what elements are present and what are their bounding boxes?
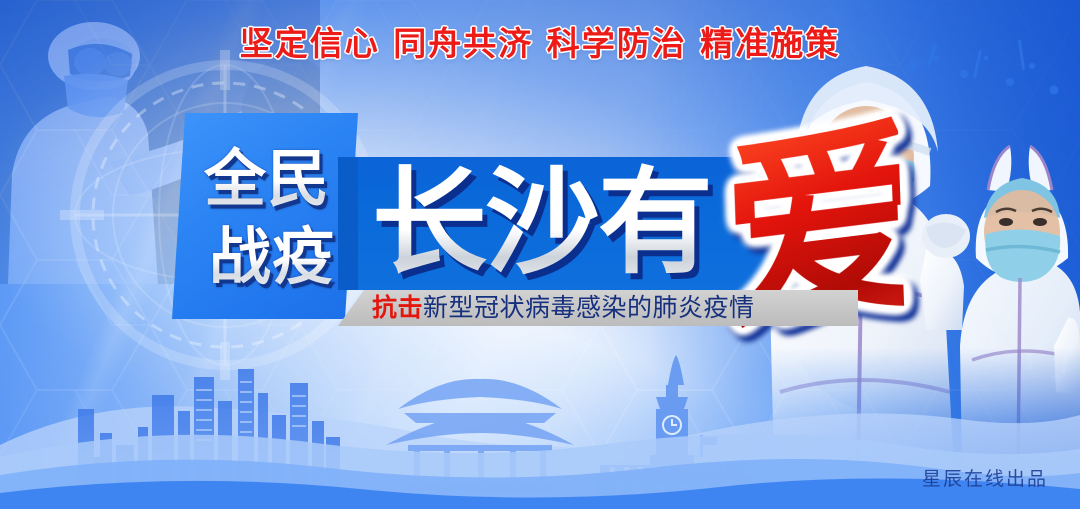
covid-campaign-banner: 坚定信心 同舟共济 科学防治 精准施策 全民 战疫 长沙有 爱 抗击 新型冠状病… <box>0 0 1080 509</box>
badge-line-2: 战疫 <box>209 218 335 296</box>
changsha-city-skyline <box>0 349 1080 509</box>
campaign-slogan: 坚定信心 同舟共济 科学防治 精准施策 <box>0 24 1080 64</box>
producer-credit: 星辰在线出品 <box>922 467 1048 491</box>
headline-text: 长沙有 <box>372 150 752 295</box>
subtitle-highlight: 抗击 <box>372 292 423 324</box>
badge-line-1: 全民 <box>204 140 330 218</box>
subtitle-text: 抗击 新型冠状病毒感染的肺炎疫情 <box>372 292 792 324</box>
badge-text: 全民 战疫 <box>176 128 358 308</box>
subtitle-rest: 新型冠状病毒感染的肺炎疫情 <box>423 292 755 324</box>
accent-character-ai: 爱 <box>719 107 906 368</box>
